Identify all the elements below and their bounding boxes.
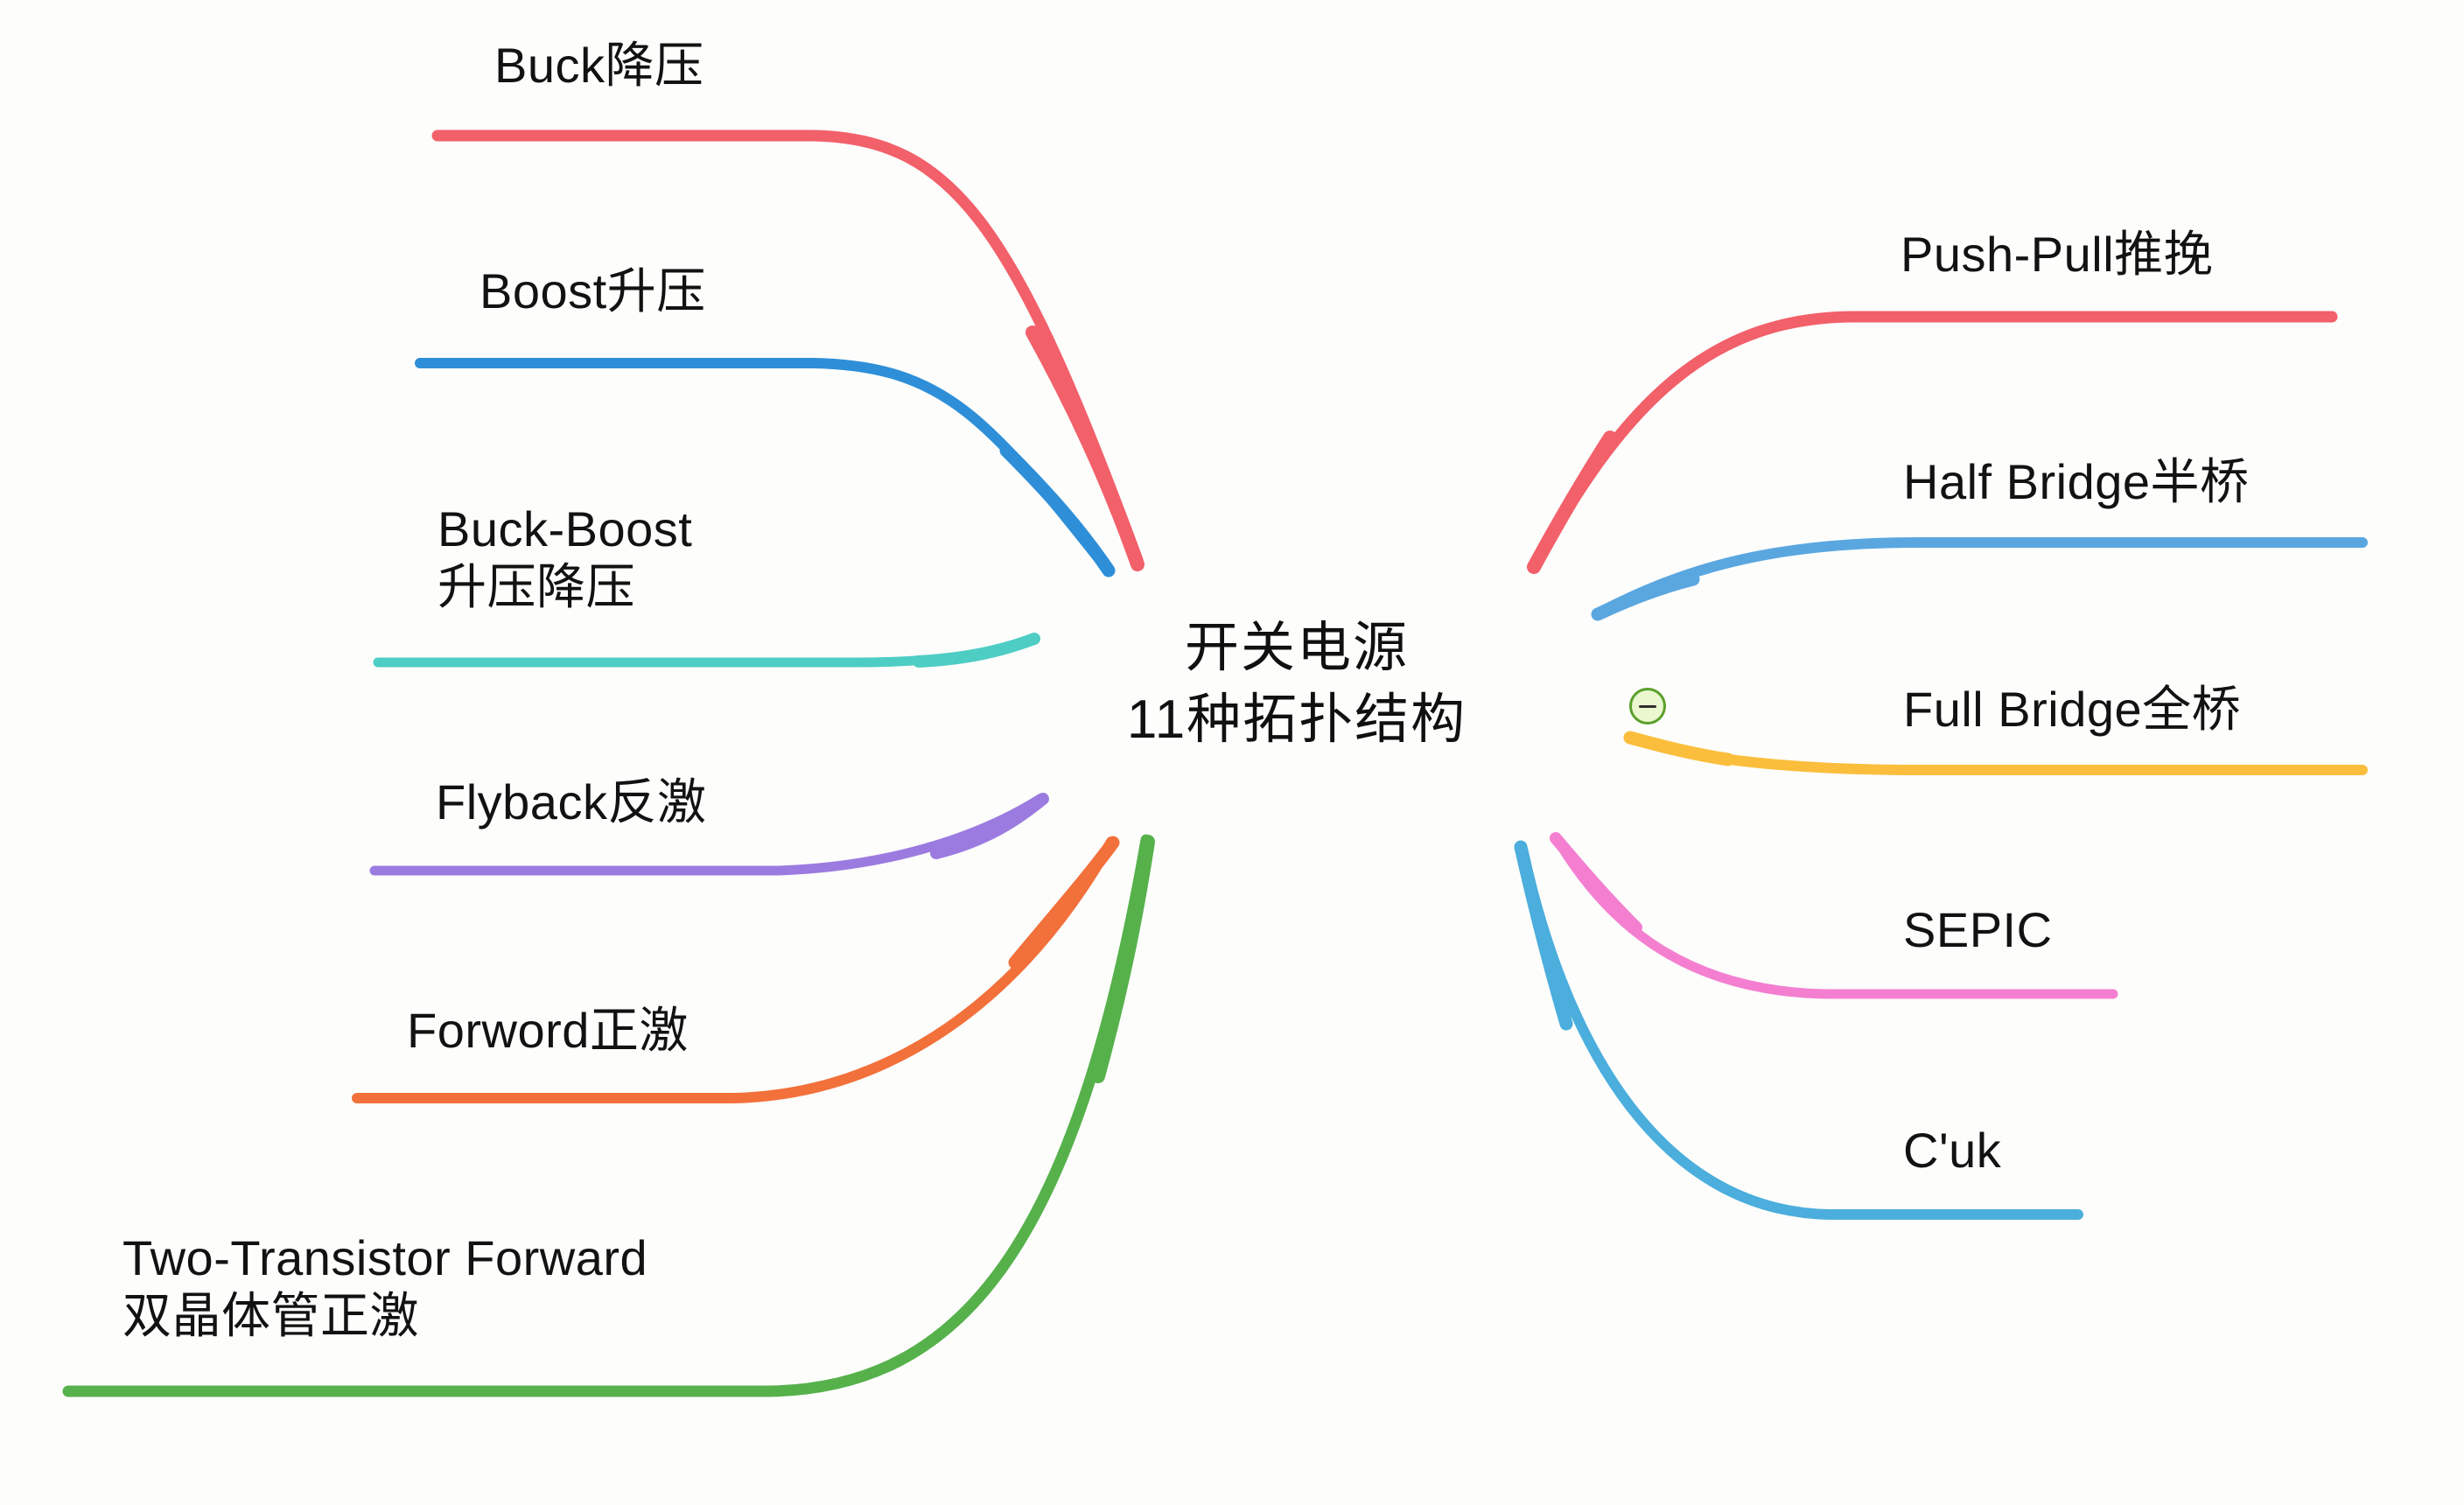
branch-line-half-bridge-taper	[1598, 579, 1693, 614]
center-node-line-1: 开关电源	[1078, 612, 1515, 684]
node-label-sepic[interactable]: SEPIC	[1903, 901, 2053, 959]
branch-line-buck-boost-taper	[919, 639, 1034, 661]
branch-line-push-pull-taper	[1534, 437, 1610, 567]
branch-line-buck[interactable]	[437, 136, 1137, 560]
branch-line-sepic-taper	[1556, 838, 1636, 927]
node-label-two-transistor-forward[interactable]: Two-Transistor Forward 双晶体管正激	[122, 1229, 647, 1345]
node-label-forword-line-1: Forword正激	[407, 1002, 689, 1060]
branch-line-cuk-taper	[1521, 847, 1566, 1024]
node-label-buck-boost[interactable]: Buck-Boost 升压降压	[437, 500, 692, 616]
node-label-boost[interactable]: Boost升压	[479, 262, 706, 320]
node-label-flyback-line-1: Flyback反激	[436, 773, 706, 831]
branch-line-forword-taper	[1015, 843, 1113, 962]
node-label-push-pull-line-1: Push-Pull推挽	[1900, 226, 2213, 283]
node-label-sepic-line-1: SEPIC	[1903, 901, 2053, 959]
branch-line-full-bridge-taper	[1630, 738, 1728, 759]
node-label-forword[interactable]: Forword正激	[407, 1002, 689, 1060]
minus-glyph	[1639, 705, 1656, 708]
node-label-push-pull[interactable]: Push-Pull推挽	[1900, 226, 2213, 283]
node-label-buck-boost-line-1: Buck-Boost	[437, 500, 692, 558]
minus-circle-icon[interactable]	[1629, 688, 1666, 724]
branch-line-full-bridge[interactable]	[1632, 738, 2362, 770]
center-node-line-2: 11种拓扑结构	[1078, 684, 1515, 756]
node-label-flyback[interactable]: Flyback反激	[436, 773, 706, 831]
node-label-buck-line-1: Buck降压	[494, 37, 704, 94]
branch-line-two-transistor-forward-taper	[1098, 842, 1148, 1076]
node-label-buck[interactable]: Buck降压	[494, 37, 704, 94]
node-label-two-transistor-forward-line-2: 双晶体管正激	[122, 1287, 647, 1345]
branch-line-push-pull[interactable]	[1536, 317, 2332, 564]
mindmap-canvas: 开关电源 11种拓扑结构 Buck降压 Boost升压 Buck-Boost 升…	[0, 0, 2464, 1505]
node-label-half-bridge[interactable]: Half Bridge半桥	[1903, 453, 2250, 511]
node-label-cuk[interactable]: C'uk	[1903, 1122, 2001, 1179]
node-label-full-bridge-line-1: Full Bridge全桥	[1903, 681, 2241, 738]
center-node[interactable]: 开关电源 11种拓扑结构	[1078, 612, 1515, 756]
node-label-boost-line-1: Boost升压	[479, 262, 706, 320]
node-label-two-transistor-forward-line-1: Two-Transistor Forward	[122, 1229, 647, 1287]
node-label-half-bridge-line-1: Half Bridge半桥	[1903, 453, 2250, 511]
node-label-cuk-line-1: C'uk	[1903, 1122, 2001, 1179]
node-label-buck-boost-line-2: 升压降压	[437, 558, 692, 616]
node-label-full-bridge[interactable]: Full Bridge全桥	[1903, 681, 2241, 738]
branch-line-half-bridge[interactable]	[1599, 542, 2362, 612]
